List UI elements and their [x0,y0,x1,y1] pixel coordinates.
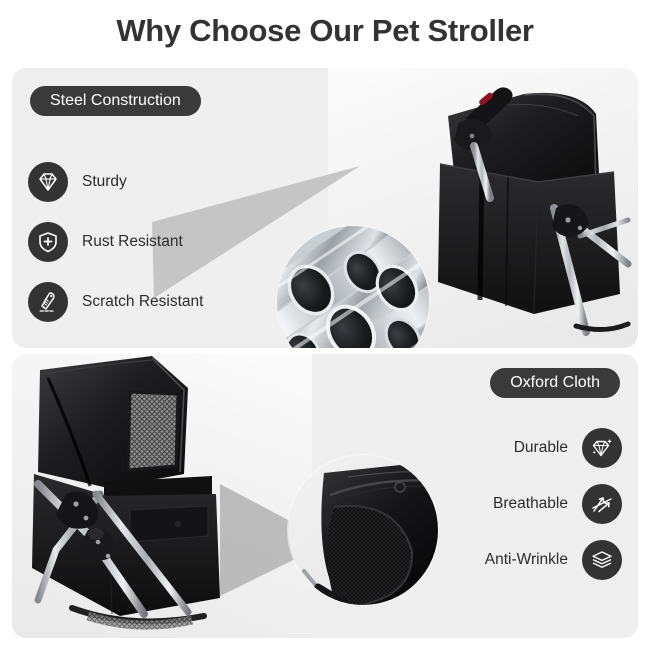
feature-label: Durable [514,439,568,457]
badge-steel-construction: Steel Construction [30,86,201,116]
feature-item-scratch-resistant: Scratch Resistant [28,280,203,324]
feature-panel-oxford: Oxford Cloth Durable [12,354,638,638]
badge-oxford-cloth: Oxford Cloth [490,368,620,398]
feature-label: Breathable [493,495,568,513]
feature-panel-steel: Steel Construction Sturdy Rust Resistant [12,68,638,348]
diamond-icon [28,162,68,202]
feature-label: Sturdy [82,173,127,191]
page-title: Why Choose Our Pet Stroller [0,8,650,54]
feature-item-anti-wrinkle: Anti-Wrinkle [485,538,622,582]
feature-list-oxford: Durable Breathable [485,426,622,594]
feature-list-steel: Sturdy Rust Resistant Scratch Resist [28,160,203,340]
diamond-sparkle-icon [582,428,622,468]
airflow-arrows-icon [582,484,622,524]
feature-item-sturdy: Sturdy [28,160,203,204]
scratch-tool-icon [28,282,68,322]
oxford-cloth-closeup [288,455,438,605]
feature-item-durable: Durable [485,426,622,470]
feature-label: Rust Resistant [82,233,183,251]
feature-label: Anti-Wrinkle [485,551,568,569]
feature-label: Scratch Resistant [82,293,203,311]
feature-item-breathable: Breathable [485,482,622,526]
fabric-stack-icon [582,540,622,580]
shield-plus-icon [28,222,68,262]
feature-item-rust-resistant: Rust Resistant [28,220,203,264]
